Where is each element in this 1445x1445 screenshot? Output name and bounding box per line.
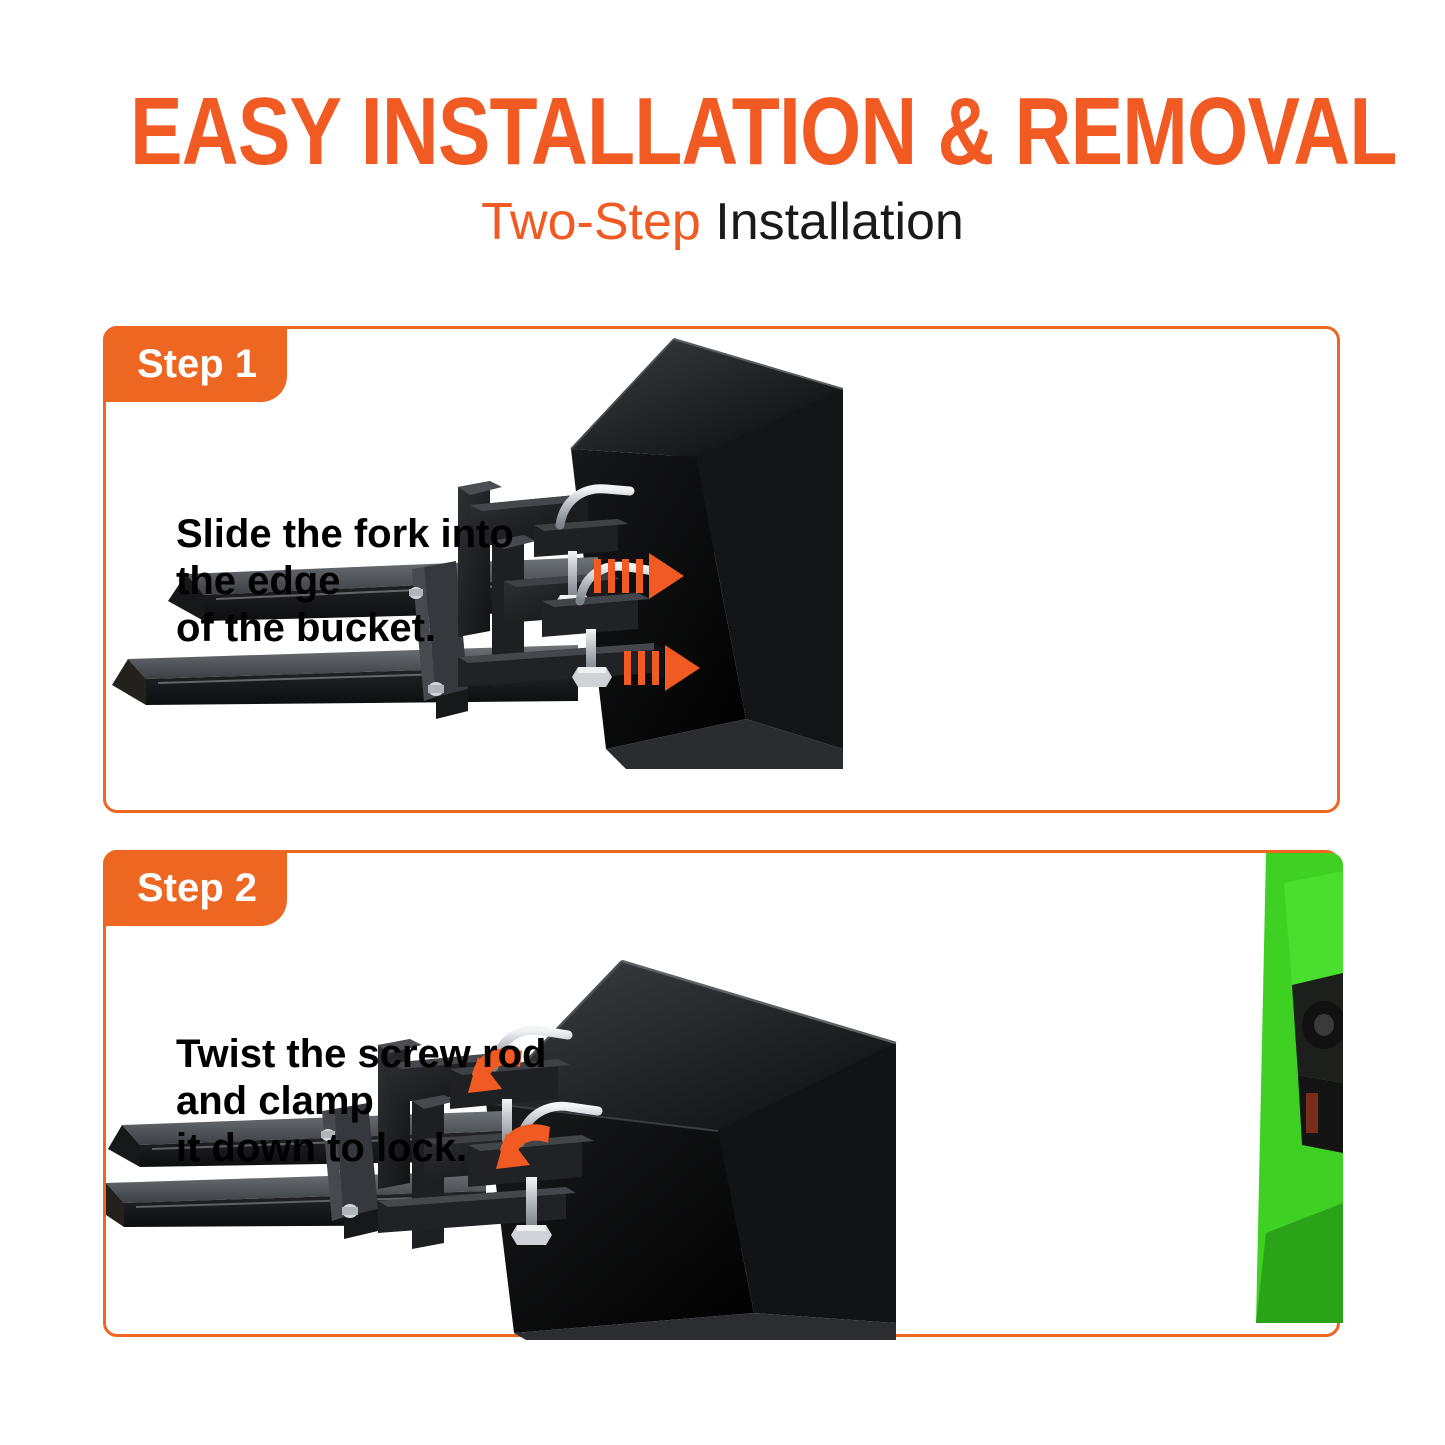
step-instruction-1: Slide the fork into the edge of the buck…	[176, 511, 514, 652]
bucket-1	[571, 339, 843, 769]
infographic-page: EASY INSTALLATION & REMOVAL Two-Step Ins…	[0, 0, 1445, 1445]
clamp-upper-1	[534, 489, 630, 615]
bucket-2	[486, 961, 896, 1340]
page-subtitle: Two-Step Installation	[0, 190, 1445, 254]
clamp-lower-1	[542, 566, 654, 687]
fork-blade-lower-1	[112, 645, 578, 705]
tractor-backdrop-2	[1256, 853, 1346, 1323]
page-subtitle-rest: Installation	[701, 193, 964, 251]
slide-arrow-lower	[624, 645, 700, 691]
step-card-1: Step 1 Slide the fork into the edge of t…	[103, 326, 1340, 813]
step-card-2: Step 2 Twist the screw rod and clamp it …	[103, 850, 1340, 1337]
page-title: EASY INSTALLATION & REMOVAL	[130, 82, 1315, 182]
page-subtitle-accent: Two-Step	[481, 193, 701, 251]
slide-arrow-upper	[594, 553, 684, 599]
step-instruction-2: Twist the screw rod and clamp it down to…	[176, 1031, 546, 1172]
fork-blade-lower-2	[106, 1171, 486, 1227]
step-badge-2: Step 2	[103, 850, 287, 926]
step-badge-1: Step 1	[103, 326, 287, 402]
